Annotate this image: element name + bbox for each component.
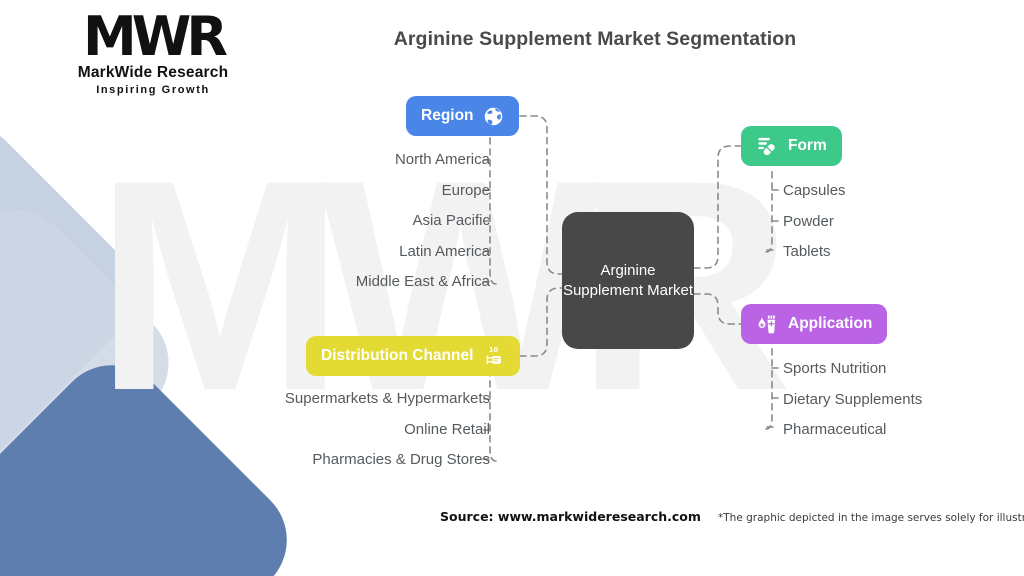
leaf-list-region: North America Europe Asia Pacific Latin … xyxy=(356,145,490,298)
decorative-shape-light xyxy=(0,102,158,484)
globe-icon xyxy=(483,106,504,127)
infographic-canvas: MWR MWR MarkWide Research Inspiring Grow… xyxy=(0,0,1024,576)
logo-company-name: MarkWide Research xyxy=(68,64,238,82)
leaf-item: Supermarkets & Hypermarkets xyxy=(285,384,490,415)
capsule-icon xyxy=(756,135,779,158)
logo-tagline: Inspiring Growth xyxy=(68,83,238,97)
leaf-item: Pharmaceutical xyxy=(783,415,922,446)
branch-badge-application[interactable]: Application xyxy=(741,304,887,344)
leaf-item: Online Retail xyxy=(285,415,490,446)
leaf-list-distribution-channel: Supermarkets & Hypermarkets Online Retai… xyxy=(285,384,490,476)
page-title: Arginine Supplement Market Segmentation xyxy=(300,28,890,51)
leaf-item: Sports Nutrition xyxy=(783,354,922,385)
brand-logo: MWR MarkWide Research Inspiring Growth xyxy=(68,8,238,97)
logo-mark: MWR xyxy=(68,8,238,66)
leaf-item: Tablets xyxy=(783,237,846,268)
leaf-item: Middle East & Africa xyxy=(356,267,490,298)
branch-label-application: Application xyxy=(788,315,872,333)
center-node-label: Arginine Supplement Market xyxy=(562,261,694,301)
svg-text:10: 10 xyxy=(489,345,499,353)
leaf-item: Capsules xyxy=(783,176,846,207)
branch-badge-distribution-channel[interactable]: Distribution Channel 10 xyxy=(306,336,520,376)
lab-flask-icon xyxy=(756,313,779,336)
leaf-item: Powder xyxy=(783,207,846,238)
decorative-shape-dark xyxy=(0,342,310,576)
leaf-list-application: Sports Nutrition Dietary Supplements Pha… xyxy=(783,354,922,446)
leaf-item: Latin America xyxy=(356,237,490,268)
decorative-shape-light-2 xyxy=(0,186,192,540)
source-attribution: Source: www.markwideresearch.com xyxy=(440,509,701,524)
leaf-item: Dietary Supplements xyxy=(783,385,922,416)
disclaimer-text: *The graphic depicted in the image serve… xyxy=(718,512,1024,524)
branch-badge-form[interactable]: Form xyxy=(741,126,842,166)
center-node: Arginine Supplement Market xyxy=(562,212,694,349)
leaf-item: Pharmacies & Drug Stores xyxy=(285,445,490,476)
branch-badge-region[interactable]: Region xyxy=(406,96,519,136)
leaf-item: Asia Pacific xyxy=(356,206,490,237)
branch-label-distribution-channel: Distribution Channel xyxy=(321,347,473,365)
leaf-list-form: Capsules Powder Tablets xyxy=(783,176,846,268)
delivery-truck-icon: 10 xyxy=(482,345,505,368)
branch-label-region: Region xyxy=(421,107,474,125)
leaf-item: North America xyxy=(356,145,490,176)
branch-label-form: Form xyxy=(788,137,827,155)
leaf-item: Europe xyxy=(356,176,490,207)
